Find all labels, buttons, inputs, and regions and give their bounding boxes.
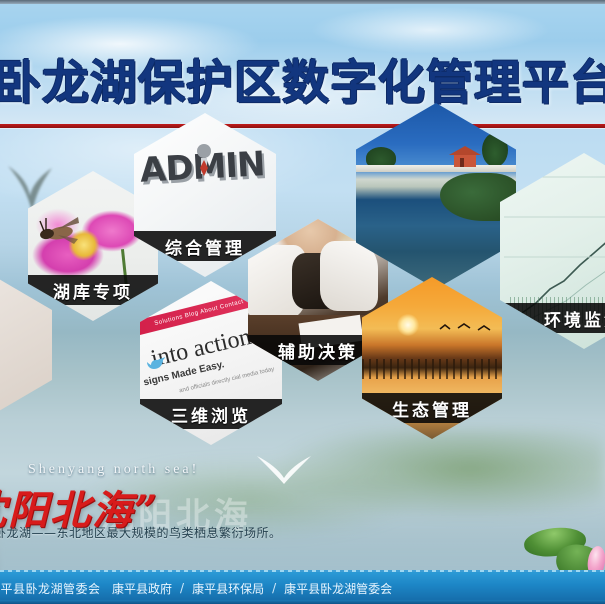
footer-link-environmental-bureau[interactable]: 康平县环保局: [192, 580, 264, 597]
hexagon-menu-grid: 湖库专项 ADMIN 综合管理 Solutions Blog About Con…: [0, 129, 605, 459]
slogan-english: Shenyang north sea!: [28, 462, 199, 478]
page-title: 卧龙湖保护区数字化管理平台: [0, 48, 605, 108]
page-root: 卧龙湖保护区数字化管理平台: [0, 0, 605, 604]
scene-caption: 卧龙湖——东北地区最大规模的鸟类栖息繁衍场所。: [0, 524, 282, 541]
footer-bottom-edge: [0, 600, 605, 604]
hexagon-edge-partial-left: [0, 275, 52, 415]
flying-birds-icon: [438, 321, 502, 337]
hexagon-label: 三维浏览: [140, 399, 282, 429]
pavilion-icon: [448, 145, 482, 171]
wetland-reeds: [362, 359, 502, 379]
footer-link-county-government[interactable]: 康平县政府: [112, 580, 172, 597]
hexagon-label: 环境监测: [500, 303, 605, 333]
footer-separator-1: /: [180, 581, 184, 595]
hexagon-label: 湖库专项: [28, 275, 158, 305]
shoreline-tree-right: [482, 133, 508, 167]
footer-separator-2: /: [272, 581, 276, 595]
hummingbird-moth-icon: [38, 213, 84, 247]
footer-link-wolonghu-committee[interactable]: 康平县卧龙湖管委会: [284, 580, 392, 597]
white-railing: [356, 165, 516, 172]
admin-figure-icon: [196, 143, 212, 183]
meeting-person-right: [320, 241, 378, 311]
twitter-bird-icon: [146, 355, 166, 371]
hexagon-label: 生态管理: [362, 393, 502, 423]
